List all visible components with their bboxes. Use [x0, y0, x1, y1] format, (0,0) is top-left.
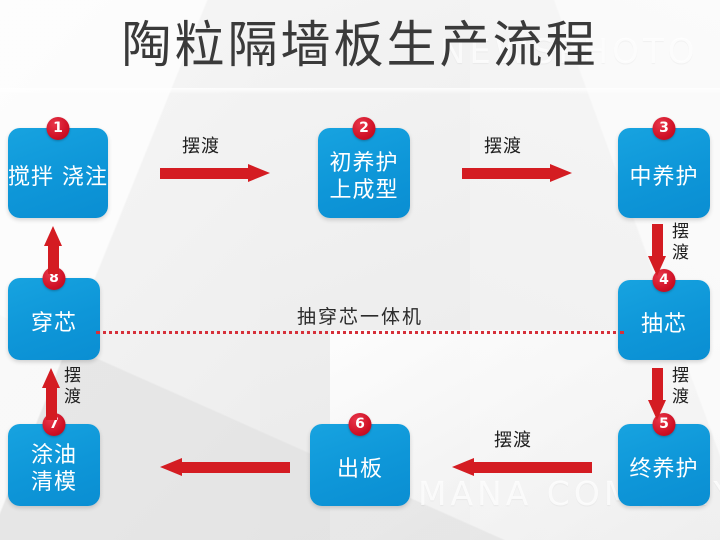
node-badge-1: 1: [47, 117, 70, 140]
arrow-label-node4-node5: 摆渡: [672, 366, 692, 408]
node-badge-2: 2: [353, 117, 376, 140]
node-label-2: 初养护 上成型: [329, 150, 398, 204]
arrow-right-icon-node2-node3: [462, 164, 572, 182]
arrow-left-icon-node5-node6: [452, 458, 592, 476]
node-label-7: 涂油 清模: [31, 442, 77, 496]
node-badge-7: 7: [43, 413, 66, 436]
arrow-label-node1-node2: 摆渡: [182, 136, 220, 158]
process-node-2[interactable]: 2 初养护 上成型: [318, 128, 410, 218]
node-badge-6: 6: [349, 413, 372, 436]
flowchart-canvas: NEWSPHOTO MANA COMPANY 陶粒隔墙板生产流程 1 搅拌 浇注…: [0, 0, 720, 540]
machine-group-dotted-line: [96, 331, 624, 334]
process-node-5[interactable]: 5 终养护: [618, 424, 710, 506]
node-label-3: 中养护: [629, 164, 698, 191]
machine-group-caption: 抽穿芯一体机: [0, 302, 720, 329]
process-node-1[interactable]: 1 搅拌 浇注: [8, 128, 108, 218]
arrow-label-node3-node4: 摆渡: [672, 222, 692, 264]
node-label-6: 出板: [337, 456, 383, 483]
node-badge-5: 5: [653, 413, 676, 436]
node-badge-8: 8: [43, 267, 66, 290]
process-node-3[interactable]: 3 中养护: [618, 128, 710, 218]
arrow-label-node7-node8: 摆渡: [64, 366, 84, 408]
background-facet: [0, 88, 720, 94]
arrow-left-icon-node6-node7: [160, 458, 290, 476]
page-title: 陶粒隔墙板生产流程: [0, 14, 720, 76]
node-label-5: 终养护: [629, 456, 698, 483]
node-badge-3: 3: [653, 117, 676, 140]
node-badge-4: 4: [653, 269, 676, 292]
process-node-7[interactable]: 7 涂油 清模: [8, 424, 100, 506]
arrow-right-icon-node1-node2: [160, 164, 270, 182]
process-node-6[interactable]: 6 出板: [310, 424, 410, 506]
node-label-1: 搅拌 浇注: [8, 164, 108, 191]
arrow-label-node5-node6: 摆渡: [494, 430, 532, 452]
arrow-label-node2-node3: 摆渡: [484, 136, 522, 158]
